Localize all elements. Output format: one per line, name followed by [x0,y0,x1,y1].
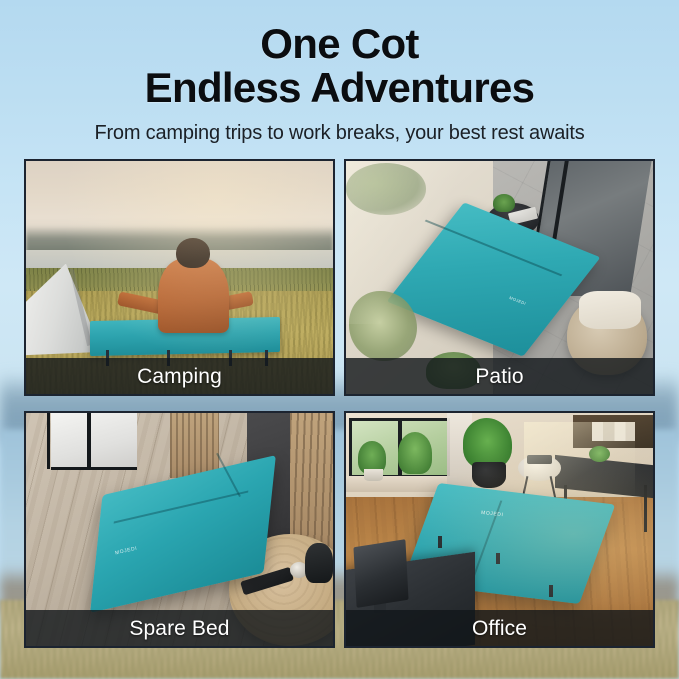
window-sill [51,467,137,470]
caption-bar-office: Office [346,610,653,646]
header-block: One Cot Endless Adventures From camping … [0,0,679,145]
stool-items [527,455,552,464]
person-head [176,238,210,268]
caption-label: Patio [475,366,523,387]
vase-icon [305,543,333,583]
plant-pot-icon [472,462,506,488]
panel-camping[interactable]: Camping [24,159,335,396]
potted-plant-icon [589,446,610,462]
foliage-icon [349,291,417,361]
panel-spare-bed[interactable]: MOJEDI Spare Bed [24,411,335,648]
cot-leg-icon [438,536,442,548]
window-frame [47,413,50,469]
window-mullion [87,413,91,469]
chair-cushion [579,291,640,328]
subheadline: From camping trips to work breaks, your … [0,121,679,145]
headline-line-2: Endless Adventures [0,66,679,110]
caption-label: Spare Bed [129,618,229,639]
caption-bar-patio: Patio [346,358,653,394]
cot-leg-icon [549,585,553,597]
use-case-grid: Camping MOJEDI [24,159,655,648]
caption-label: Camping [137,366,222,387]
cot-leg-icon [496,553,500,565]
caption-bar-camping: Camping [26,358,333,394]
desk-leg [644,485,647,532]
foliage-icon [346,163,426,214]
books-icon [592,422,635,441]
plant-pot-icon [364,469,382,481]
headline-line-1: One Cot [0,22,679,66]
panel-office[interactable]: MOJEDI Office [344,411,655,648]
panel-patio[interactable]: MOJEDI Patio [344,159,655,396]
promo-image-root: One Cot Endless Adventures From camping … [0,0,679,679]
window [51,413,137,469]
potted-plant-icon [398,432,432,474]
caption-bar-spare-bed: Spare Bed [26,610,333,646]
person-torso [158,259,229,334]
computer-monitor [354,540,409,608]
caption-label: Office [472,618,527,639]
slat-wall-panel [170,413,219,478]
potted-plant-icon [493,194,514,213]
